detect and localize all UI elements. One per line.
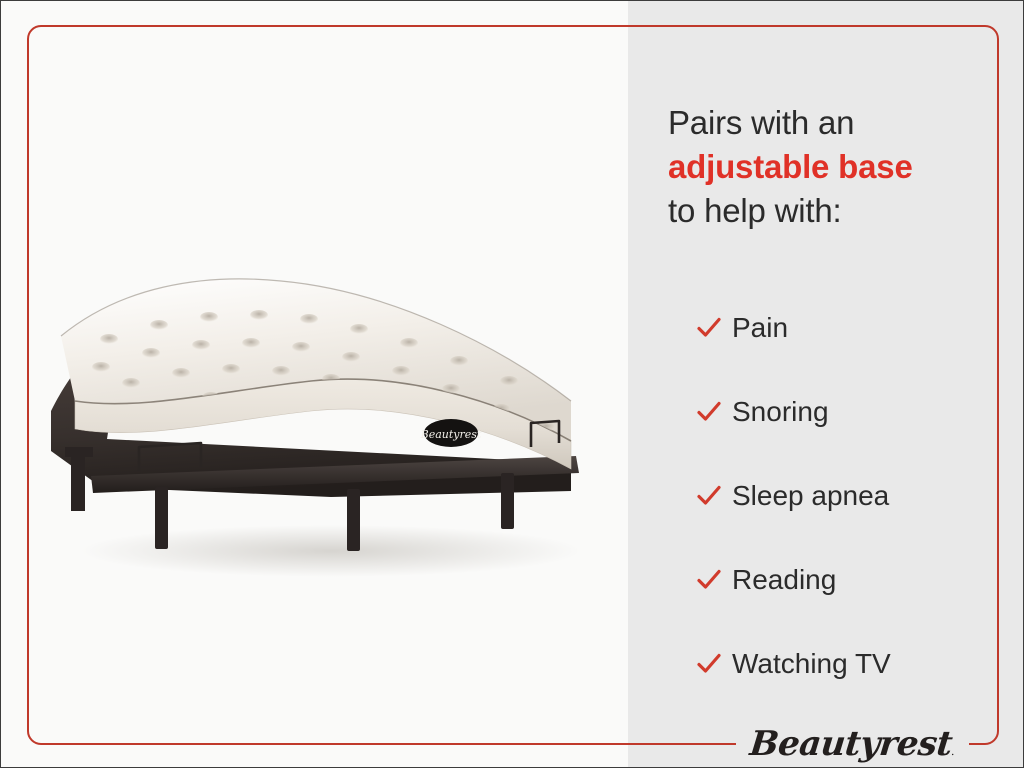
check-icon xyxy=(696,399,726,425)
check-icon xyxy=(696,483,726,509)
info-panel: Pairs with an adjustable base to help wi… xyxy=(628,1,1024,768)
brand-name: Beautyrest xyxy=(748,724,954,764)
list-item: Snoring xyxy=(696,370,1016,454)
list-item: Sleep apnea xyxy=(696,454,1016,538)
check-icon xyxy=(696,315,726,341)
headline-emphasis: adjustable base xyxy=(668,145,998,189)
benefits-list: Pain Snoring Sleep apnea xyxy=(696,286,1016,706)
list-item-label: Watching TV xyxy=(732,650,891,678)
check-icon xyxy=(696,651,726,677)
check-icon xyxy=(696,567,726,593)
list-item-label: Sleep apnea xyxy=(732,482,889,510)
brand-logo: Beautyrest. xyxy=(736,714,969,768)
list-item: Pain xyxy=(696,286,1016,370)
adjustable-bed-illustration: Beautyrest xyxy=(31,251,631,591)
headline-line-3: to help with: xyxy=(668,189,998,233)
page-title: Pairs with an adjustable base to help wi… xyxy=(668,101,998,233)
list-item: Watching TV xyxy=(696,622,1016,706)
list-item-label: Reading xyxy=(732,566,836,594)
mattress-badge-label: Beautyrest xyxy=(420,428,482,441)
brand-logo-text: Beautyrest. xyxy=(748,724,957,764)
product-image: Beautyrest xyxy=(31,251,631,591)
list-item-label: Pain xyxy=(732,314,788,342)
poster-canvas: Beautyrest Pairs with an adjustable base… xyxy=(0,0,1024,768)
brand-trademark: . xyxy=(951,745,955,758)
list-item-label: Snoring xyxy=(732,398,829,426)
list-item: Reading xyxy=(696,538,1016,622)
headline-line-1: Pairs with an xyxy=(668,101,998,145)
